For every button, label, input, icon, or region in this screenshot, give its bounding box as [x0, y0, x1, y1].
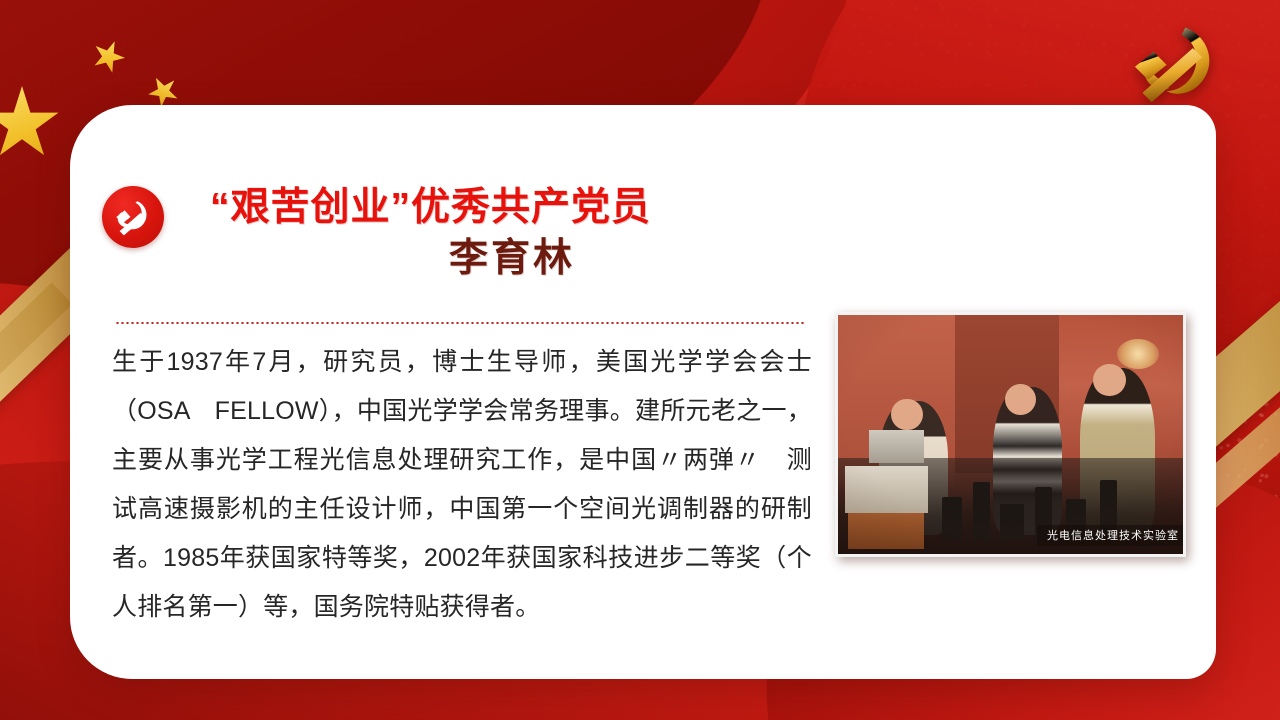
flag-star-small-1	[87, 35, 130, 78]
photo-optic-mount-1	[942, 497, 963, 540]
photo-scene: 光电信息处理技术实验室	[838, 315, 1183, 554]
photo-optic-mount-2	[973, 482, 990, 539]
slide-header: “艰苦创业”优秀共产党员 李育林	[102, 185, 872, 283]
person-name: 李育林	[210, 235, 872, 283]
photo-wooden-crate	[848, 513, 924, 549]
hammer-sickle-badge-icon	[102, 186, 164, 248]
photo-optic-mount-3	[1000, 504, 1024, 540]
photo-lamp	[1117, 339, 1159, 369]
photo-instrument-case	[869, 430, 924, 463]
flag-star-large	[0, 86, 60, 162]
biography-paragraph: 生于1937年7月，研究员，博士生导师，美国光学学会会士（OSA FELLOW）…	[112, 338, 812, 632]
content-card: “艰苦创业”优秀共产党员 李育林 生于1937年7月，研究员，博士生导师，美国光…	[70, 105, 1216, 679]
photo-caption: 光电信息处理技术实验室	[1037, 525, 1186, 546]
photo-head-left	[891, 399, 922, 430]
photo-equipment-box	[845, 466, 928, 514]
party-emblem-icon	[1120, 20, 1232, 106]
dotted-divider	[115, 322, 805, 324]
page-title: “艰苦创业”优秀共产党员	[210, 185, 872, 231]
laboratory-photo: 光电信息处理技术实验室	[835, 312, 1186, 557]
slide-stage: “艰苦创业”优秀共产党员 李育林 生于1937年7月，研究员，博士生导师，美国光…	[0, 0, 1280, 720]
